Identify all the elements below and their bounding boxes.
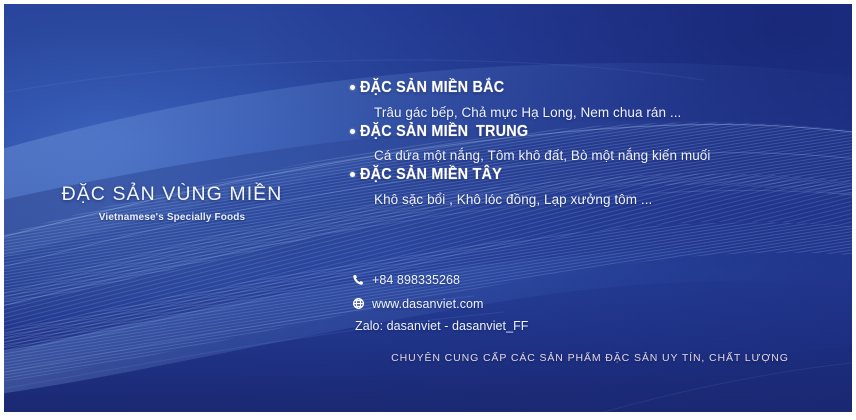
- category-heading: ĐẶC SẢN MIỀN TRUNG: [350, 124, 830, 140]
- category-title: ĐẶC SẢN MIỀN TÂY: [360, 167, 502, 183]
- contact-phone-row[interactable]: +84 898335268: [352, 269, 772, 290]
- bullet-dot-icon: [350, 85, 355, 90]
- phone-icon: [352, 273, 372, 286]
- content-layer: ĐẶC SẢN VÙNG MIỀN Vietnamese's Specially…: [4, 4, 852, 412]
- category-title-accent: TRUNG: [476, 124, 528, 140]
- brand-title: ĐẶC SẢN VÙNG MIỀN: [4, 184, 340, 205]
- category-heading: ĐẶC SẢN MIỀN BẮC: [350, 80, 830, 96]
- contact-zalo[interactable]: Zalo: dasanviet - dasanviet_FF: [355, 319, 772, 333]
- contact-website-row[interactable]: www.dasanviet.com: [352, 293, 772, 314]
- category-mien-trung: ĐẶC SẢN MIỀN TRUNG Cá dứa một nắng, Tôm …: [350, 124, 830, 164]
- category-title: ĐẶC SẢN MIỀN BẮC: [360, 80, 504, 96]
- category-mien-tay: ĐẶC SẢN MIỀN TÂY Khô sặc bổi , Khô lóc đ…: [350, 167, 830, 207]
- category-mien-bac: ĐẶC SẢN MIỀN BẮC Trâu gác bếp, Chả mực H…: [350, 80, 830, 120]
- categories-list: ĐẶC SẢN MIỀN BẮC Trâu gác bếp, Chả mực H…: [350, 80, 830, 211]
- globe-icon: [352, 297, 372, 310]
- brand-block: ĐẶC SẢN VÙNG MIỀN Vietnamese's Specially…: [4, 184, 340, 223]
- bullet-dot-icon: [350, 129, 355, 134]
- category-description: Cá dứa một nắng, Tôm khô đất, Bò một nắn…: [374, 148, 830, 163]
- contact-block: +84 898335268 www.dasanviet.com Zalo: da…: [352, 269, 772, 333]
- tagline: CHUYÊN CUNG CẤP CÁC SẢN PHẨM ĐẶC SẢN UY …: [350, 352, 830, 364]
- category-title: ĐẶC SẢN MIỀN: [360, 124, 468, 140]
- phone-number: +84 898335268: [372, 273, 460, 287]
- category-description: Khô sặc bổi , Khô lóc đồng, Lạp xưởng tô…: [374, 192, 830, 207]
- category-description: Trâu gác bếp, Chả mực Hạ Long, Nem chua …: [374, 105, 830, 120]
- category-heading: ĐẶC SẢN MIỀN TÂY: [350, 167, 830, 183]
- brand-subtitle: Vietnamese's Specially Foods: [4, 212, 340, 223]
- banner-card: ĐẶC SẢN VÙNG MIỀN Vietnamese's Specially…: [4, 4, 852, 412]
- bullet-dot-icon: [350, 172, 355, 177]
- website-url: www.dasanviet.com: [372, 297, 484, 311]
